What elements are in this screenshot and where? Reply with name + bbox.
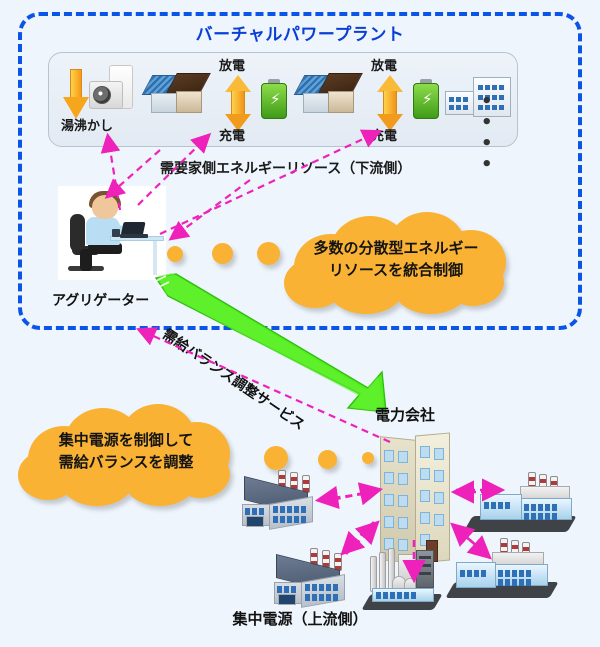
chemical-plant-icon: [466, 472, 576, 532]
charge-label-1: 充電: [219, 125, 245, 144]
der-panel: 湯沸かし 放電 充電 ⚡ 放電: [48, 52, 518, 147]
balance-service-arrow: 需給バランス調整サービス: [150, 272, 400, 422]
office-tower-icon: [378, 432, 452, 564]
battery-icon: ⚡: [261, 79, 287, 119]
discharge-label-1: 放電: [219, 55, 245, 74]
diagram-canvas: バーチャルパワープラント 湯沸かし 放電 充電 ⚡: [0, 0, 600, 647]
aggregator-label: アグリゲーター: [52, 290, 149, 310]
vpp-title: バーチャルパワープラント: [0, 20, 600, 45]
factory-icon: [236, 470, 326, 532]
central-power-label: 集中電源（上流側）: [0, 608, 600, 629]
orange-updown-arrow-icon: [377, 75, 403, 131]
cloud-balance-adjust-text: 集中電源を制御して 需給バランスを調整: [26, 430, 226, 474]
orange-updown-arrow-icon: [225, 75, 251, 131]
chemical-plant-icon: [448, 538, 558, 598]
discharge-label-2: 放電: [371, 55, 397, 74]
cloud-puff-dot: [167, 246, 183, 262]
charge-label-2: 充電: [371, 125, 397, 144]
cloud-balance-adjust: 集中電源を制御して 需給バランスを調整: [12, 402, 240, 510]
cloud-puff-dot: [318, 450, 337, 469]
thermal-plant-icon: [362, 548, 442, 610]
heat-pump-fan-icon: [93, 86, 111, 104]
cloud-puff-dot: [212, 243, 233, 264]
battery-icon: ⚡: [413, 79, 439, 119]
factory-icon: [268, 548, 358, 610]
cloud-puff-dot: [362, 452, 374, 464]
continuation-dots: • • • •: [481, 91, 517, 175]
solar-house-icon: [145, 71, 207, 117]
person-at-desk-icon: [58, 186, 166, 280]
cloud-puff-dot: [257, 242, 280, 265]
der-section-label: 需要家側エネルギーリソース（下流側）: [160, 158, 411, 178]
orange-down-arrow-icon: [63, 69, 89, 121]
cloud-puff-dot: [264, 446, 288, 470]
water-heater-label: 湯沸かし: [61, 115, 113, 134]
solar-house-icon: [297, 71, 359, 117]
utility-company-label: 電力会社: [375, 404, 435, 425]
